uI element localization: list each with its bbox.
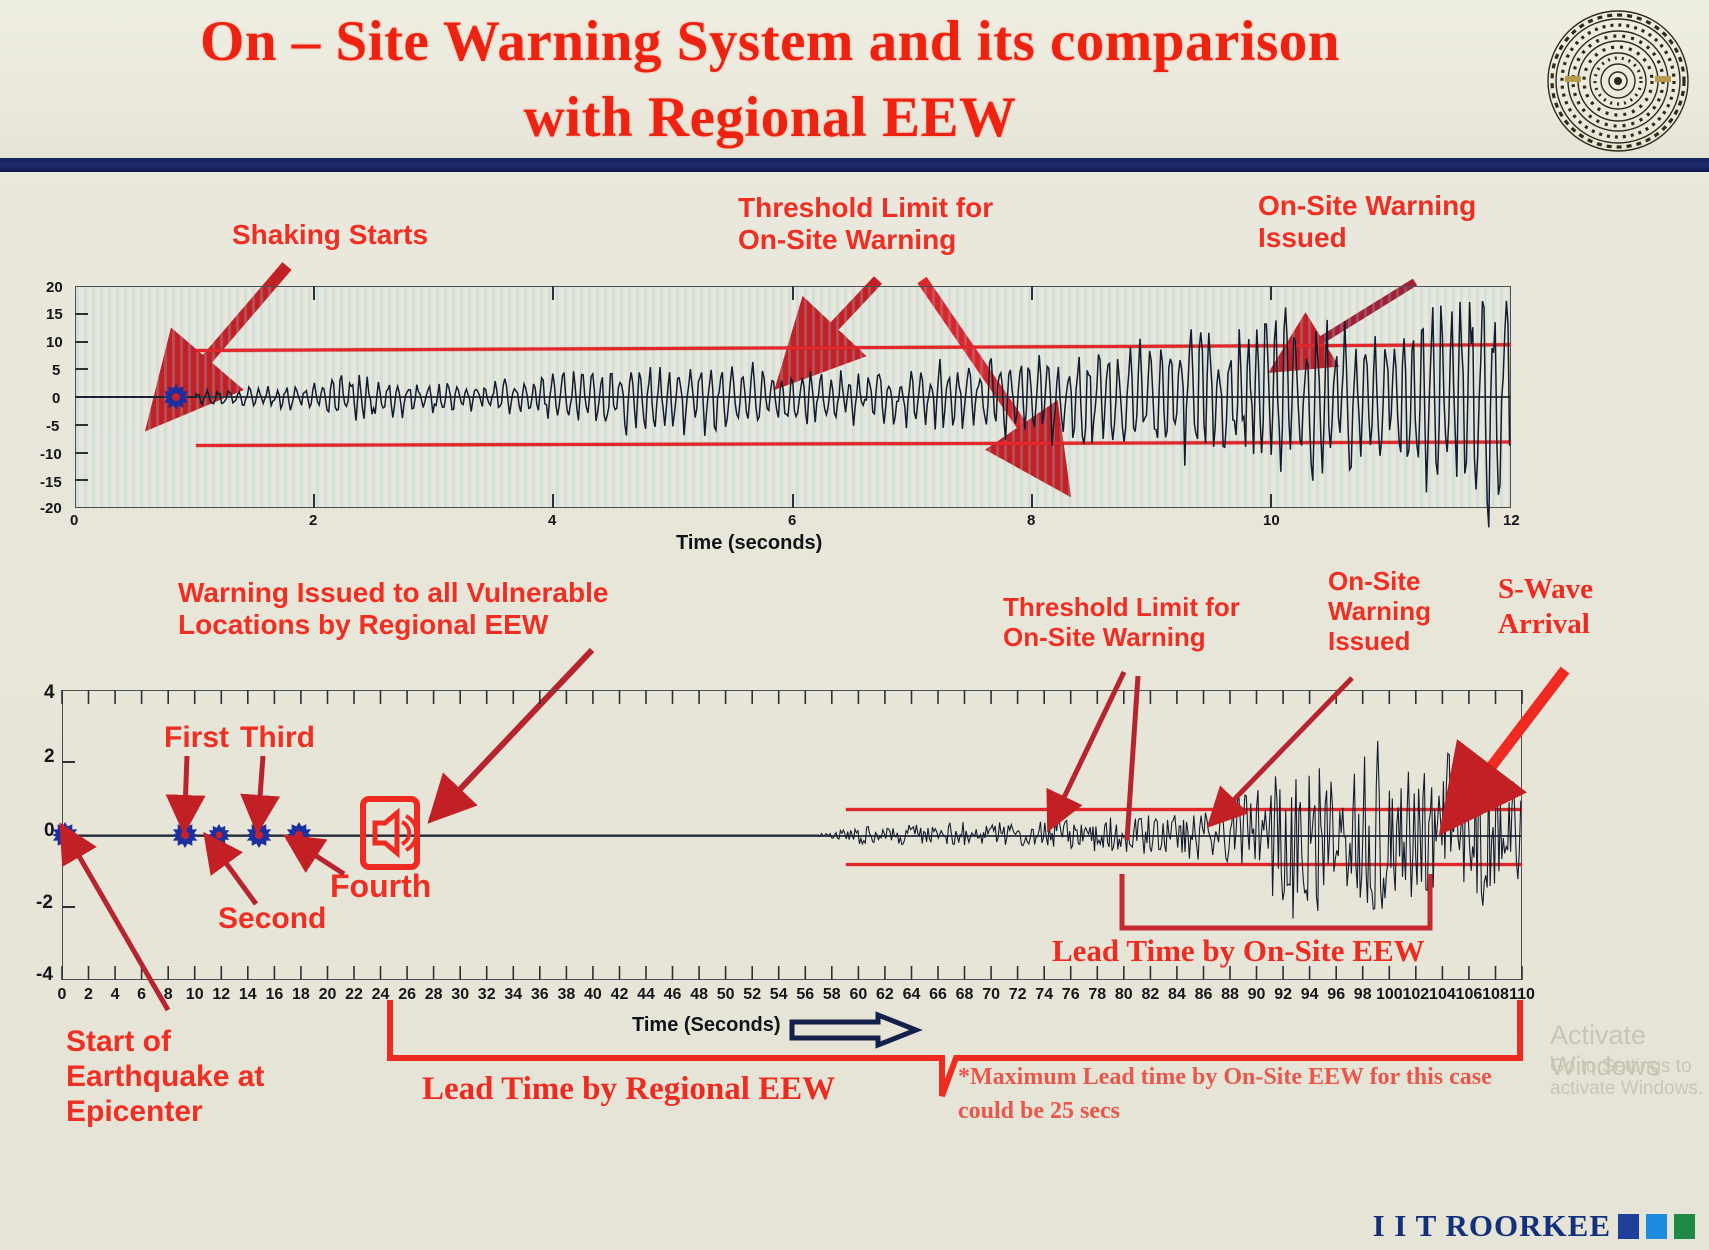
slide-header: On – Site Warning System and its compari… [0, 0, 1709, 172]
brand-square-navy [1618, 1214, 1639, 1239]
warning-broadcast-icon [361, 797, 419, 869]
annotation-regional-warning: Warning Issued to all Vulnerable Locatio… [178, 577, 608, 642]
annotation-first: First [164, 721, 229, 756]
xtick-top-3: 6 [788, 512, 796, 529]
arrow-third [250, 754, 280, 824]
annotation-lead-time-onsite: Lead Time by On-Site EEW [1052, 932, 1425, 969]
xtick-top-5: 10 [1263, 512, 1280, 529]
shaking-start-marker-icon [163, 384, 189, 410]
xtick-bottom-5: 10 [186, 986, 204, 1004]
xtick-bottom-11: 22 [345, 986, 363, 1004]
ytick-bottom-0: 4 [44, 682, 55, 704]
ytick-top-6: -10 [40, 446, 62, 463]
xtick-top-4: 8 [1027, 512, 1035, 529]
ytick-top-7: -15 [40, 474, 62, 491]
annotation-onsite-warning-issued-top: On-Site Warning Issued [1258, 190, 1476, 255]
xtick-bottom-8: 16 [265, 986, 283, 1004]
chart-top-accelerogram: Shaking Starts Threshold Limit for On-Si… [0, 172, 1709, 552]
annotation-third: Third [240, 721, 315, 756]
activate-windows-watermark-subtitle: Go to Settings to activate Windows. [1550, 1056, 1709, 1100]
slide-root: On – Site Warning System and its compari… [0, 0, 1709, 1250]
ytick-top-8: -20 [40, 500, 62, 517]
chart-top-waveform [75, 286, 1511, 508]
ytick-top-0: 20 [46, 279, 63, 296]
ytick-top-2: 10 [46, 334, 63, 351]
arrow-threshold-limit-bottom [1020, 668, 1160, 828]
xtick-bottom-7: 14 [239, 986, 257, 1004]
annotation-lead-time-regional: Lead Time by Regional EEW [422, 1070, 835, 1110]
arrow-onsite-warning-issued-bottom [1200, 674, 1370, 834]
xtick-bottom-6: 12 [212, 986, 230, 1004]
xtick-top-6: 12 [1503, 512, 1520, 529]
annotation-threshold-limit-bottom: Threshold Limit for On-Site Warning [1003, 592, 1240, 652]
third-marker-icon [246, 822, 272, 848]
iit-roorkee-emblem-icon [1543, 6, 1693, 156]
ytick-top-5: -5 [46, 418, 59, 435]
xtick-bottom-10: 20 [319, 986, 337, 1004]
annotation-onsite-warning-issued-bottom: On-Site Warning Issued [1328, 566, 1431, 656]
xtick-top-1: 2 [309, 512, 317, 529]
ytick-bottom-3: -2 [36, 892, 53, 914]
annotation-s-wave-arrival: S-Wave Arrival [1498, 572, 1593, 642]
arrow-first [176, 754, 206, 824]
ytick-bottom-4: -4 [36, 964, 53, 986]
arrow-s-wave-arrival [1450, 664, 1580, 814]
ytick-bottom-1: 2 [44, 746, 55, 768]
annotation-shaking-starts: Shaking Starts [232, 219, 428, 251]
ytick-top-1: 15 [46, 306, 63, 323]
brand-square-green [1674, 1214, 1695, 1239]
annotation-max-lead-note: *Maximum Lead time by On-Site EEW for th… [958, 1060, 1492, 1128]
chart-bottom-regional-vs-onsite: Warning Issued to all Vulnerable Locatio… [0, 552, 1709, 1250]
annotation-start-of-earthquake: Start of Earthquake at Epicenter [66, 1025, 264, 1129]
xtick-bottom-9: 18 [292, 986, 310, 1004]
xtick-top-2: 4 [548, 512, 556, 529]
brand-square-blue [1646, 1214, 1667, 1239]
arrow-start-of-earthquake [60, 832, 180, 1032]
xtick-top-0: 0 [70, 512, 78, 529]
ytick-top-4: 0 [52, 390, 60, 407]
arrow-second [204, 846, 274, 916]
iit-roorkee-footer: I I T ROORKEE [1373, 1208, 1695, 1244]
page-title: On – Site Warning System and its compari… [180, 4, 1360, 157]
annotation-threshold-limit-top: Threshold Limit for On-Site Warning [738, 192, 993, 257]
footer-brand-label: I I T ROORKEE [1373, 1208, 1611, 1244]
ytick-top-3: 5 [52, 362, 60, 379]
arrow-fourth [292, 844, 362, 884]
